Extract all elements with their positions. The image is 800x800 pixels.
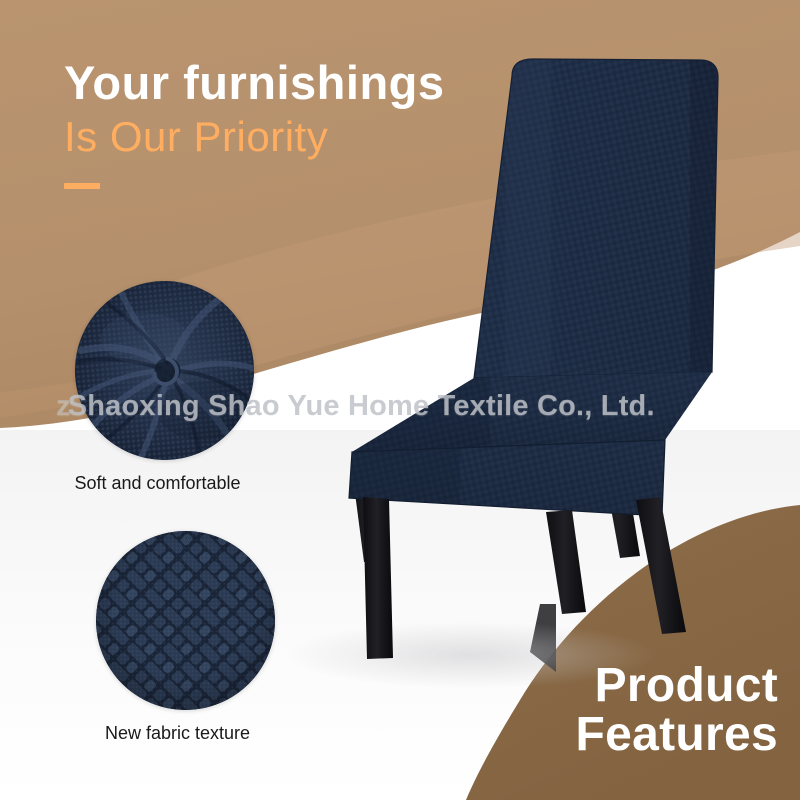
chair-leg-front-center (546, 510, 586, 614)
corner-callout: Product Features (576, 662, 779, 760)
corner-callout-line-2: Features (576, 711, 779, 760)
feature-texture-image (96, 531, 275, 710)
feature-texture-caption: New fabric texture (88, 723, 267, 744)
basketweave-texture-illustration (96, 531, 275, 710)
headline-line-1: Your furnishings (64, 58, 534, 108)
corner-callout-line-1: Product (576, 662, 779, 711)
chair-leg-front-right (636, 497, 686, 634)
headline-line-2: Is Our Priority (64, 112, 534, 162)
feature-soft-caption: Soft and comfortable (68, 473, 247, 494)
headline-accent-bar (64, 183, 100, 189)
feature-new-fabric-texture: New fabric texture (96, 531, 275, 744)
chair-leg-front-left (363, 497, 393, 659)
feature-soft-image (75, 281, 254, 460)
swirled-fabric-illustration (75, 281, 254, 460)
headline-block: Your furnishings Is Our Priority (64, 58, 534, 189)
feature-soft-and-comfortable: Soft and comfortable (75, 281, 254, 494)
product-feature-banner: Your furnishings Is Our Priority (0, 0, 800, 800)
